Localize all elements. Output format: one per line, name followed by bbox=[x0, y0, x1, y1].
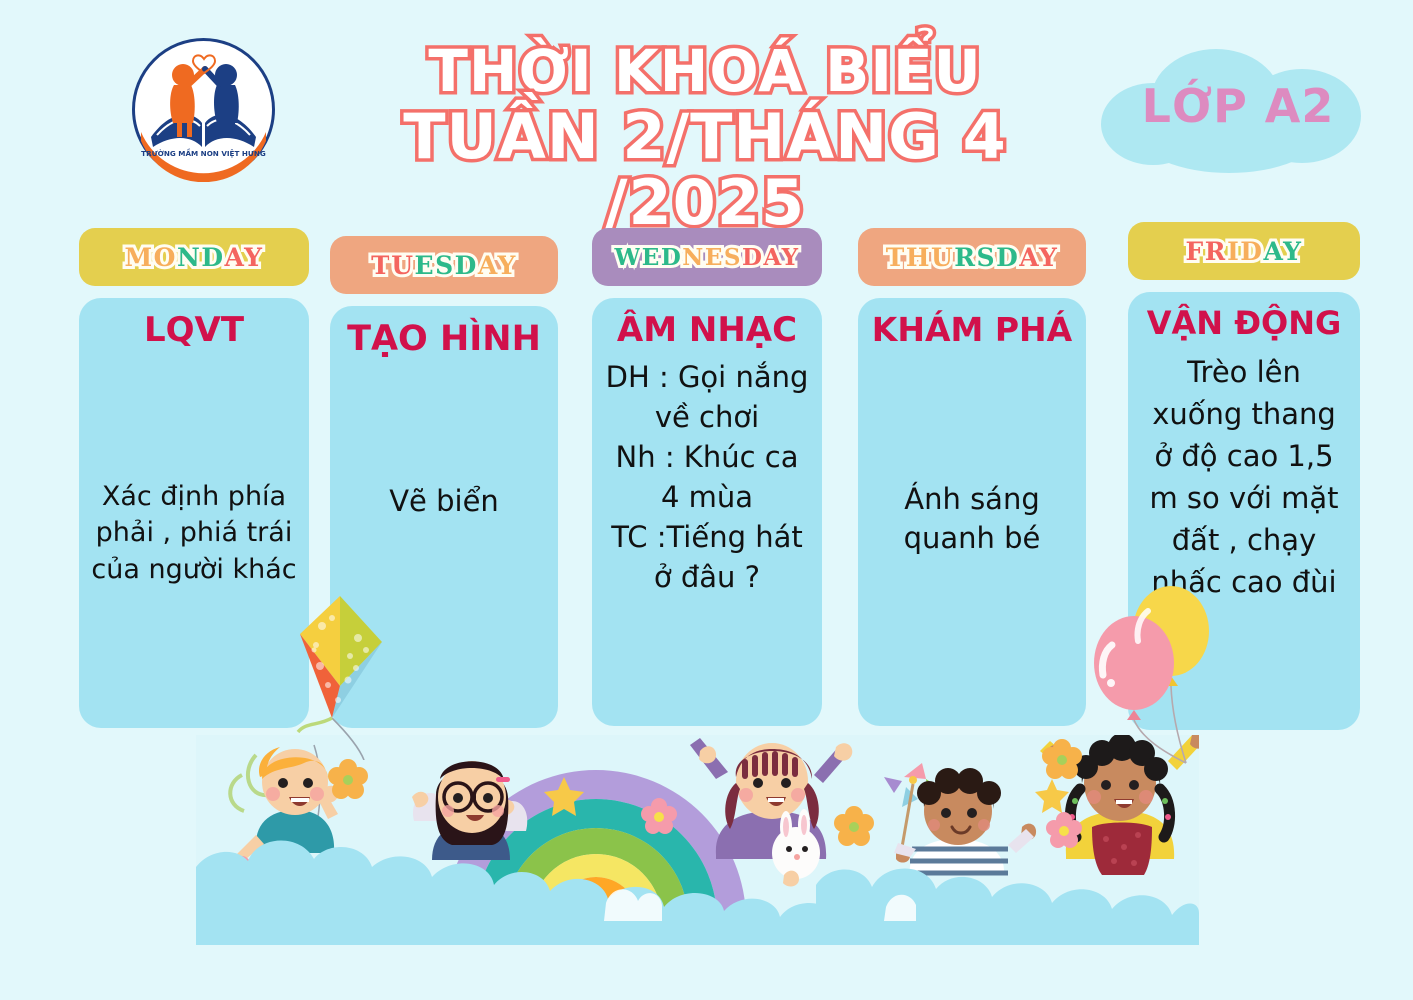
kite-icon bbox=[292, 590, 412, 760]
day-label-letter: D bbox=[661, 244, 682, 271]
day-label-letter: A bbox=[225, 243, 245, 272]
day-label-letter: T bbox=[886, 243, 906, 272]
lesson-monday: Xác định phía phải , phiá trái của người… bbox=[87, 479, 301, 588]
day-label-letter: D bbox=[1240, 237, 1263, 266]
bottom-illustration bbox=[196, 735, 1199, 945]
day-label-letter: F bbox=[1186, 237, 1205, 266]
day-label-letter: E bbox=[705, 244, 724, 271]
day-label-letter: R bbox=[1205, 237, 1227, 266]
day-label-letter: E bbox=[642, 244, 661, 271]
day-header-wednesday[interactable]: WEDNESDAY bbox=[592, 228, 822, 286]
kite-decoration bbox=[292, 590, 412, 760]
day-header-monday[interactable]: MONDAY bbox=[79, 228, 309, 286]
children-clouds-rainbow-illustration bbox=[196, 735, 1199, 945]
day-card-thursday[interactable]: KHÁM PHÁ Ánh sáng quanh bé bbox=[858, 298, 1086, 726]
day-label-letter: R bbox=[954, 243, 976, 272]
day-label-letter: D bbox=[201, 243, 224, 272]
day-label-letter: D bbox=[996, 243, 1019, 272]
day-label-letter: S bbox=[435, 251, 455, 280]
day-label-monday: MONDAY bbox=[124, 243, 263, 272]
column-thursday: THURSDAY KHÁM PHÁ Ánh sáng quanh bé bbox=[858, 228, 1086, 726]
subject-wednesday: ÂM NHẠC bbox=[600, 312, 814, 349]
day-label-friday: FRIDAY bbox=[1186, 237, 1303, 266]
column-monday: MONDAY LQVT Xác định phía phải , phiá tr… bbox=[79, 228, 309, 728]
day-label-letter: A bbox=[1263, 237, 1283, 266]
subject-friday: VẬN ĐỘNG bbox=[1136, 306, 1352, 341]
day-card-monday[interactable]: LQVT Xác định phía phải , phiá trái của … bbox=[79, 298, 309, 728]
day-label-letter: A bbox=[478, 251, 498, 280]
day-label-letter: N bbox=[682, 244, 705, 271]
day-label-letter: N bbox=[177, 243, 201, 272]
subject-thursday: KHÁM PHÁ bbox=[866, 312, 1078, 348]
day-label-letter: I bbox=[1227, 237, 1240, 266]
class-badge-label: LỚP A2 bbox=[1093, 79, 1383, 133]
day-header-tuesday[interactable]: TUESDAY bbox=[330, 236, 558, 294]
lesson-friday: Trèo lên xuống thang ở độ cao 1,5 m so v… bbox=[1136, 351, 1352, 603]
day-label-letter: S bbox=[977, 243, 997, 272]
day-label-letter: Y bbox=[498, 251, 517, 280]
day-label-letter: Y bbox=[1283, 237, 1302, 266]
schedule-poster: TRƯỜNG MẦM NON VIỆT HƯNG THỜI KHOÁ BIỂU … bbox=[0, 0, 1413, 1000]
day-label-letter: A bbox=[763, 244, 781, 271]
day-label-letter: O bbox=[154, 243, 177, 272]
day-header-friday[interactable]: FRIDAY bbox=[1128, 222, 1360, 280]
day-label-letter: Y bbox=[1039, 243, 1058, 272]
day-label-letter: D bbox=[742, 244, 763, 271]
day-label-letter: H bbox=[906, 243, 931, 272]
day-label-letter: U bbox=[391, 251, 414, 280]
day-label-letter: M bbox=[124, 243, 153, 272]
balloons-decoration bbox=[1086, 583, 1236, 783]
day-label-letter: Y bbox=[782, 244, 800, 271]
day-label-thursday: THURSDAY bbox=[886, 243, 1059, 272]
subject-tuesday: TẠO HÌNH bbox=[338, 320, 550, 359]
column-wednesday: WEDNESDAY ÂM NHẠC DH : Gọi nắng về chơi … bbox=[592, 228, 822, 726]
day-header-thursday[interactable]: THURSDAY bbox=[858, 228, 1086, 286]
day-label-letter: Y bbox=[244, 243, 263, 272]
day-label-letter: T bbox=[371, 251, 391, 280]
lesson-wednesday: DH : Gọi nắng về chơi Nh : Khúc ca 4 mùa… bbox=[600, 357, 814, 597]
day-label-tuesday: TUESDAY bbox=[371, 251, 517, 280]
day-label-wednesday: WEDNESDAY bbox=[614, 244, 799, 271]
day-label-letter: W bbox=[614, 244, 641, 271]
subject-monday: LQVT bbox=[87, 312, 301, 349]
day-card-wednesday[interactable]: ÂM NHẠC DH : Gọi nắng về chơi Nh : Khúc … bbox=[592, 298, 822, 726]
lesson-thursday: Ánh sáng quanh bé bbox=[866, 480, 1078, 558]
day-label-letter: S bbox=[724, 244, 742, 271]
day-label-letter: D bbox=[455, 251, 478, 280]
lesson-tuesday: Vẽ biển bbox=[338, 482, 550, 521]
day-label-letter: E bbox=[415, 251, 436, 280]
day-label-letter: A bbox=[1019, 243, 1039, 272]
day-label-letter: U bbox=[931, 243, 954, 272]
balloons-icon bbox=[1086, 583, 1236, 783]
